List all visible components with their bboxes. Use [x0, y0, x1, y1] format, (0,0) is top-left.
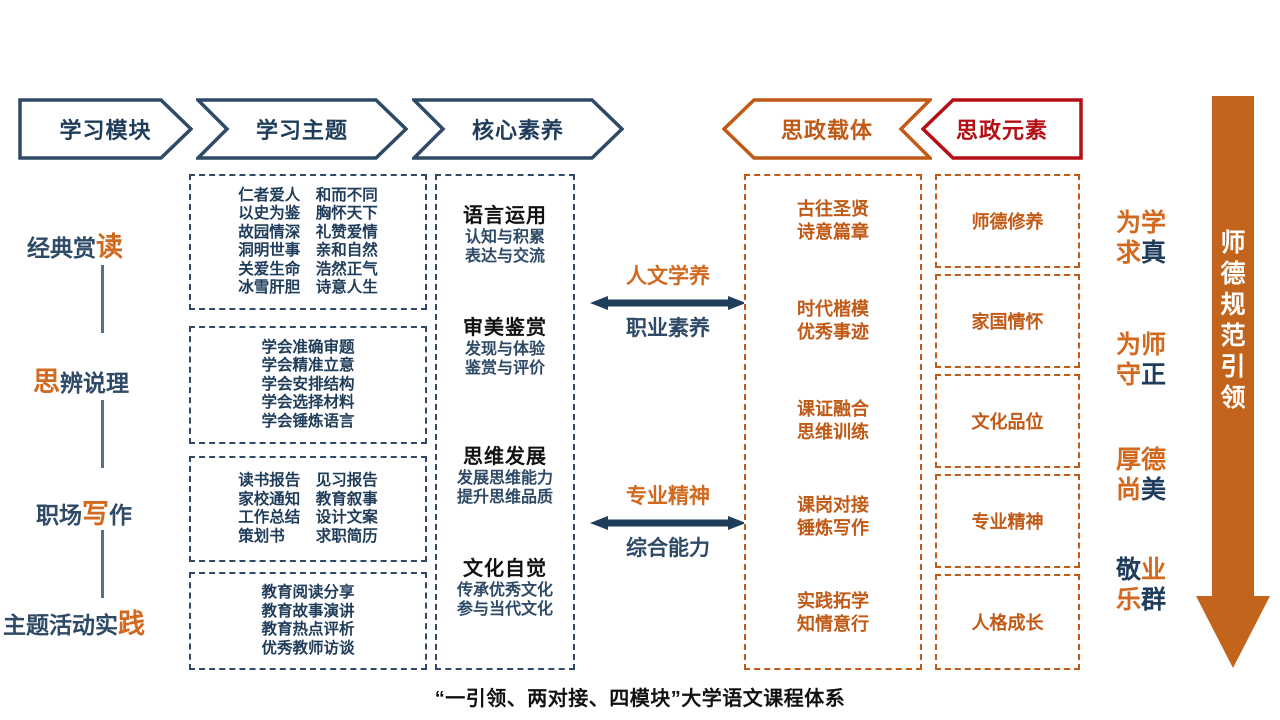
topic-row: 故园情深 礼赞爱情 — [238, 224, 378, 243]
big-arrow-text: 师 德 规 范 引 领 — [1196, 228, 1270, 414]
module-3-suffix: 作 — [109, 502, 132, 528]
module-3-highlight: 写 — [82, 499, 109, 529]
topic-row: 教育热点评析 — [261, 621, 354, 640]
literacy-2-sub: 鉴赏与评价 — [437, 359, 573, 378]
element-label-2: 家国情怀 — [937, 308, 1078, 334]
element-box-4[interactable]: 专业精神 — [935, 474, 1080, 568]
module-3-prefix: 职场 — [36, 502, 82, 528]
literacy-1-sub: 认知与积累 — [437, 228, 573, 247]
literacy-group-1: 语言运用 认知与积累 表达与交流 — [437, 204, 573, 266]
literacy-4-sub: 参与当代文化 — [437, 600, 573, 619]
topic-row: 优秀教师访谈 — [261, 640, 354, 659]
topic-row: 关爱生命 浩然正气 — [238, 261, 378, 280]
carrier-line: 锤炼写作 — [746, 517, 920, 540]
element-box-5[interactable]: 人格成长 — [935, 574, 1080, 670]
header-learning-module-label: 学习模块 — [59, 113, 151, 145]
big-arrow-char: 领 — [1196, 383, 1270, 414]
connector-1-bottom: 职业素养 — [588, 316, 748, 342]
carrier-line: 思维训练 — [746, 421, 920, 444]
big-down-arrow[interactable]: 师 德 规 范 引 领 — [1196, 96, 1270, 668]
topic-row: 洞明世事 亲和自然 — [238, 242, 378, 261]
topic-box-2[interactable]: 学会准确审题 学会精准立意 学会安排结构 学会选择材料 学会锤炼语言 — [189, 326, 427, 444]
literacy-4-sub: 传承优秀文化 — [437, 581, 573, 600]
carrier-line: 课岗对接 — [746, 494, 920, 517]
slogan-1: 为学 求真 — [1093, 208, 1189, 268]
topic-row: 冰雪肝胆 诗意人生 — [238, 279, 378, 298]
literacy-3-head: 思维发展 — [437, 445, 573, 469]
slogan-3-c3: 尚 — [1116, 476, 1141, 504]
header-learning-topic[interactable]: 学习主题 — [196, 98, 408, 160]
slogan-2-c3: 守 — [1116, 361, 1141, 389]
module-label-1[interactable]: 经典赏读 — [27, 225, 123, 264]
topic-row: 教育阅读分享 — [261, 584, 354, 603]
slogan-1-c1: 为 — [1116, 209, 1141, 237]
topic-row: 工作总结 设计文案 — [238, 509, 378, 528]
module-4-highlight: 践 — [118, 609, 145, 639]
big-arrow-char: 范 — [1196, 321, 1270, 352]
literacy-group-2: 审美鉴赏 发现与体验 鉴赏与评价 — [437, 316, 573, 378]
element-box-1[interactable]: 师德修养 — [935, 174, 1080, 268]
module-connector-line-3 — [101, 530, 104, 598]
header-learning-topic-label: 学习主题 — [256, 113, 348, 145]
core-literacy-box[interactable]: 语言运用 认知与积累 表达与交流 审美鉴赏 发现与体验 鉴赏与评价 思维发展 发… — [435, 174, 575, 670]
element-label-5: 人格成长 — [937, 609, 1078, 635]
slogan-4-c1: 敬 — [1116, 556, 1141, 584]
slogan-4: 敬业 乐群 — [1093, 555, 1189, 615]
carrier-line: 课证融合 — [746, 398, 920, 421]
big-arrow-char: 师 — [1196, 228, 1270, 259]
slogan-4-c2: 业 — [1141, 556, 1166, 584]
module-label-3[interactable]: 职场写作 — [36, 492, 132, 531]
connector-pair-2: 专业精神 综合能力 — [588, 484, 748, 562]
slogan-2-c4: 正 — [1141, 361, 1166, 389]
big-arrow-char: 引 — [1196, 352, 1270, 383]
topic-row: 学会安排结构 — [261, 376, 354, 395]
connector-pair-1: 人文学养 职业素养 — [588, 264, 748, 342]
connector-1-top: 人文学养 — [588, 264, 748, 290]
carrier-line: 诗意篇章 — [746, 221, 920, 244]
slogan-3-c2: 德 — [1141, 446, 1166, 474]
topic-box-1-list: 仁者爱人 和而不同 以史为鉴 胸怀天下 故园情深 礼赞爱情 洞明世事 亲和自然 … — [191, 176, 425, 308]
header-learning-module[interactable]: 学习模块 — [18, 98, 193, 160]
module-connector-line-1 — [101, 265, 104, 333]
slogan-4-c3: 乐 — [1116, 586, 1141, 614]
topic-row: 学会选择材料 — [261, 394, 354, 413]
carrier-box[interactable]: 古往圣贤 诗意篇章 时代楷模 优秀事迹 课证融合 思维训练 课岗对接 锤炼写作 … — [744, 174, 922, 670]
carrier-item-1: 古往圣贤 诗意篇章 — [746, 198, 920, 244]
carrier-line: 古往圣贤 — [746, 198, 920, 221]
connector-2-top: 专业精神 — [588, 484, 748, 510]
element-label-3: 文化品位 — [937, 408, 1078, 434]
topic-row: 以史为鉴 胸怀天下 — [238, 205, 378, 224]
topic-row: 教育故事演讲 — [261, 603, 354, 622]
element-box-3[interactable]: 文化品位 — [935, 374, 1080, 468]
slogan-4-c4: 群 — [1141, 586, 1166, 614]
literacy-1-sub: 表达与交流 — [437, 247, 573, 266]
carrier-line: 优秀事迹 — [746, 321, 920, 344]
slogan-2: 为师 守正 — [1093, 330, 1189, 390]
header-core-literacy-label: 核心素养 — [472, 113, 564, 145]
module-2-suffix: 辨说理 — [60, 370, 129, 396]
slogan-1-c2: 学 — [1141, 209, 1166, 237]
carrier-line: 时代楷模 — [746, 298, 920, 321]
header-ideological-element[interactable]: 思政元素 — [921, 98, 1083, 160]
carrier-line: 知情意行 — [746, 613, 920, 636]
carrier-item-2: 时代楷模 优秀事迹 — [746, 298, 920, 344]
slogan-3-c4: 美 — [1141, 476, 1166, 504]
header-ideological-element-label: 思政元素 — [956, 113, 1048, 145]
literacy-2-head: 审美鉴赏 — [437, 316, 573, 340]
topic-box-1[interactable]: 仁者爱人 和而不同 以史为鉴 胸怀天下 故园情深 礼赞爱情 洞明世事 亲和自然 … — [189, 174, 427, 310]
topic-row: 策划书 求职简历 — [238, 528, 378, 547]
diagram-caption: “一引领、两对接、四模块”大学语文课程体系 — [0, 682, 1280, 711]
module-1-highlight: 读 — [96, 232, 123, 262]
module-label-2[interactable]: 思辨说理 — [33, 360, 129, 399]
slogan-1-c3: 求 — [1116, 239, 1141, 267]
double-arrow-icon — [588, 512, 748, 534]
topic-row: 学会准确审题 — [261, 339, 354, 358]
literacy-group-3: 思维发展 发展思维能力 提升思维品质 — [437, 445, 573, 507]
topic-row: 仁者爱人 和而不同 — [238, 187, 378, 206]
module-label-4[interactable]: 主题活动实践 — [3, 602, 145, 641]
header-core-literacy[interactable]: 核心素养 — [412, 98, 624, 160]
topic-row: 学会精准立意 — [261, 357, 354, 376]
module-2-highlight: 思 — [33, 367, 60, 397]
module-connector-line-2 — [101, 400, 104, 468]
topic-box-4-list: 教育阅读分享 教育故事演讲 教育热点评析 优秀教师访谈 — [191, 574, 425, 668]
slogan-3-c1: 厚 — [1116, 446, 1141, 474]
double-arrow-icon — [588, 292, 748, 314]
big-arrow-char: 规 — [1196, 290, 1270, 321]
slogan-3: 厚德 尚美 — [1093, 445, 1189, 505]
carrier-item-4: 课岗对接 锤炼写作 — [746, 494, 920, 540]
diagram-canvas: 学习模块 学习主题 核心素养 思政载体 思政元素 经典赏读 思辨说理 职场写作 — [0, 0, 1280, 720]
topic-row: 读书报告 见习报告 — [238, 472, 378, 491]
literacy-group-4: 文化自觉 传承优秀文化 参与当代文化 — [437, 557, 573, 619]
carrier-item-5: 实践拓学 知情意行 — [746, 590, 920, 636]
literacy-3-sub: 提升思维品质 — [437, 488, 573, 507]
header-ideological-carrier[interactable]: 思政载体 — [722, 98, 932, 160]
topic-box-3[interactable]: 读书报告 见习报告 家校通知 教育叙事 工作总结 设计文案 策划书 求职简历 — [189, 456, 427, 562]
slogan-2-c1: 为 — [1116, 331, 1141, 359]
module-4-prefix: 主题活动实 — [3, 612, 118, 638]
element-box-2[interactable]: 家国情怀 — [935, 274, 1080, 368]
topic-row: 家校通知 教育叙事 — [238, 491, 378, 510]
topic-row: 学会锤炼语言 — [261, 413, 354, 432]
element-label-4: 专业精神 — [937, 508, 1078, 534]
literacy-4-head: 文化自觉 — [437, 557, 573, 581]
topic-box-4[interactable]: 教育阅读分享 教育故事演讲 教育热点评析 优秀教师访谈 — [189, 572, 427, 670]
topic-box-2-list: 学会准确审题 学会精准立意 学会安排结构 学会选择材料 学会锤炼语言 — [191, 328, 425, 442]
topic-box-3-list: 读书报告 见习报告 家校通知 教育叙事 工作总结 设计文案 策划书 求职简历 — [191, 458, 425, 560]
literacy-1-head: 语言运用 — [437, 204, 573, 228]
header-ideological-carrier-label: 思政载体 — [781, 113, 873, 145]
slogan-2-c2: 师 — [1141, 331, 1166, 359]
element-label-1: 师德修养 — [937, 208, 1078, 234]
carrier-item-3: 课证融合 思维训练 — [746, 398, 920, 444]
module-1-prefix: 经典赏 — [27, 235, 96, 261]
literacy-2-sub: 发现与体验 — [437, 340, 573, 359]
connector-2-bottom: 综合能力 — [588, 536, 748, 562]
slogan-1-c4: 真 — [1141, 239, 1166, 267]
literacy-3-sub: 发展思维能力 — [437, 469, 573, 488]
carrier-line: 实践拓学 — [746, 590, 920, 613]
big-arrow-char: 德 — [1196, 259, 1270, 290]
